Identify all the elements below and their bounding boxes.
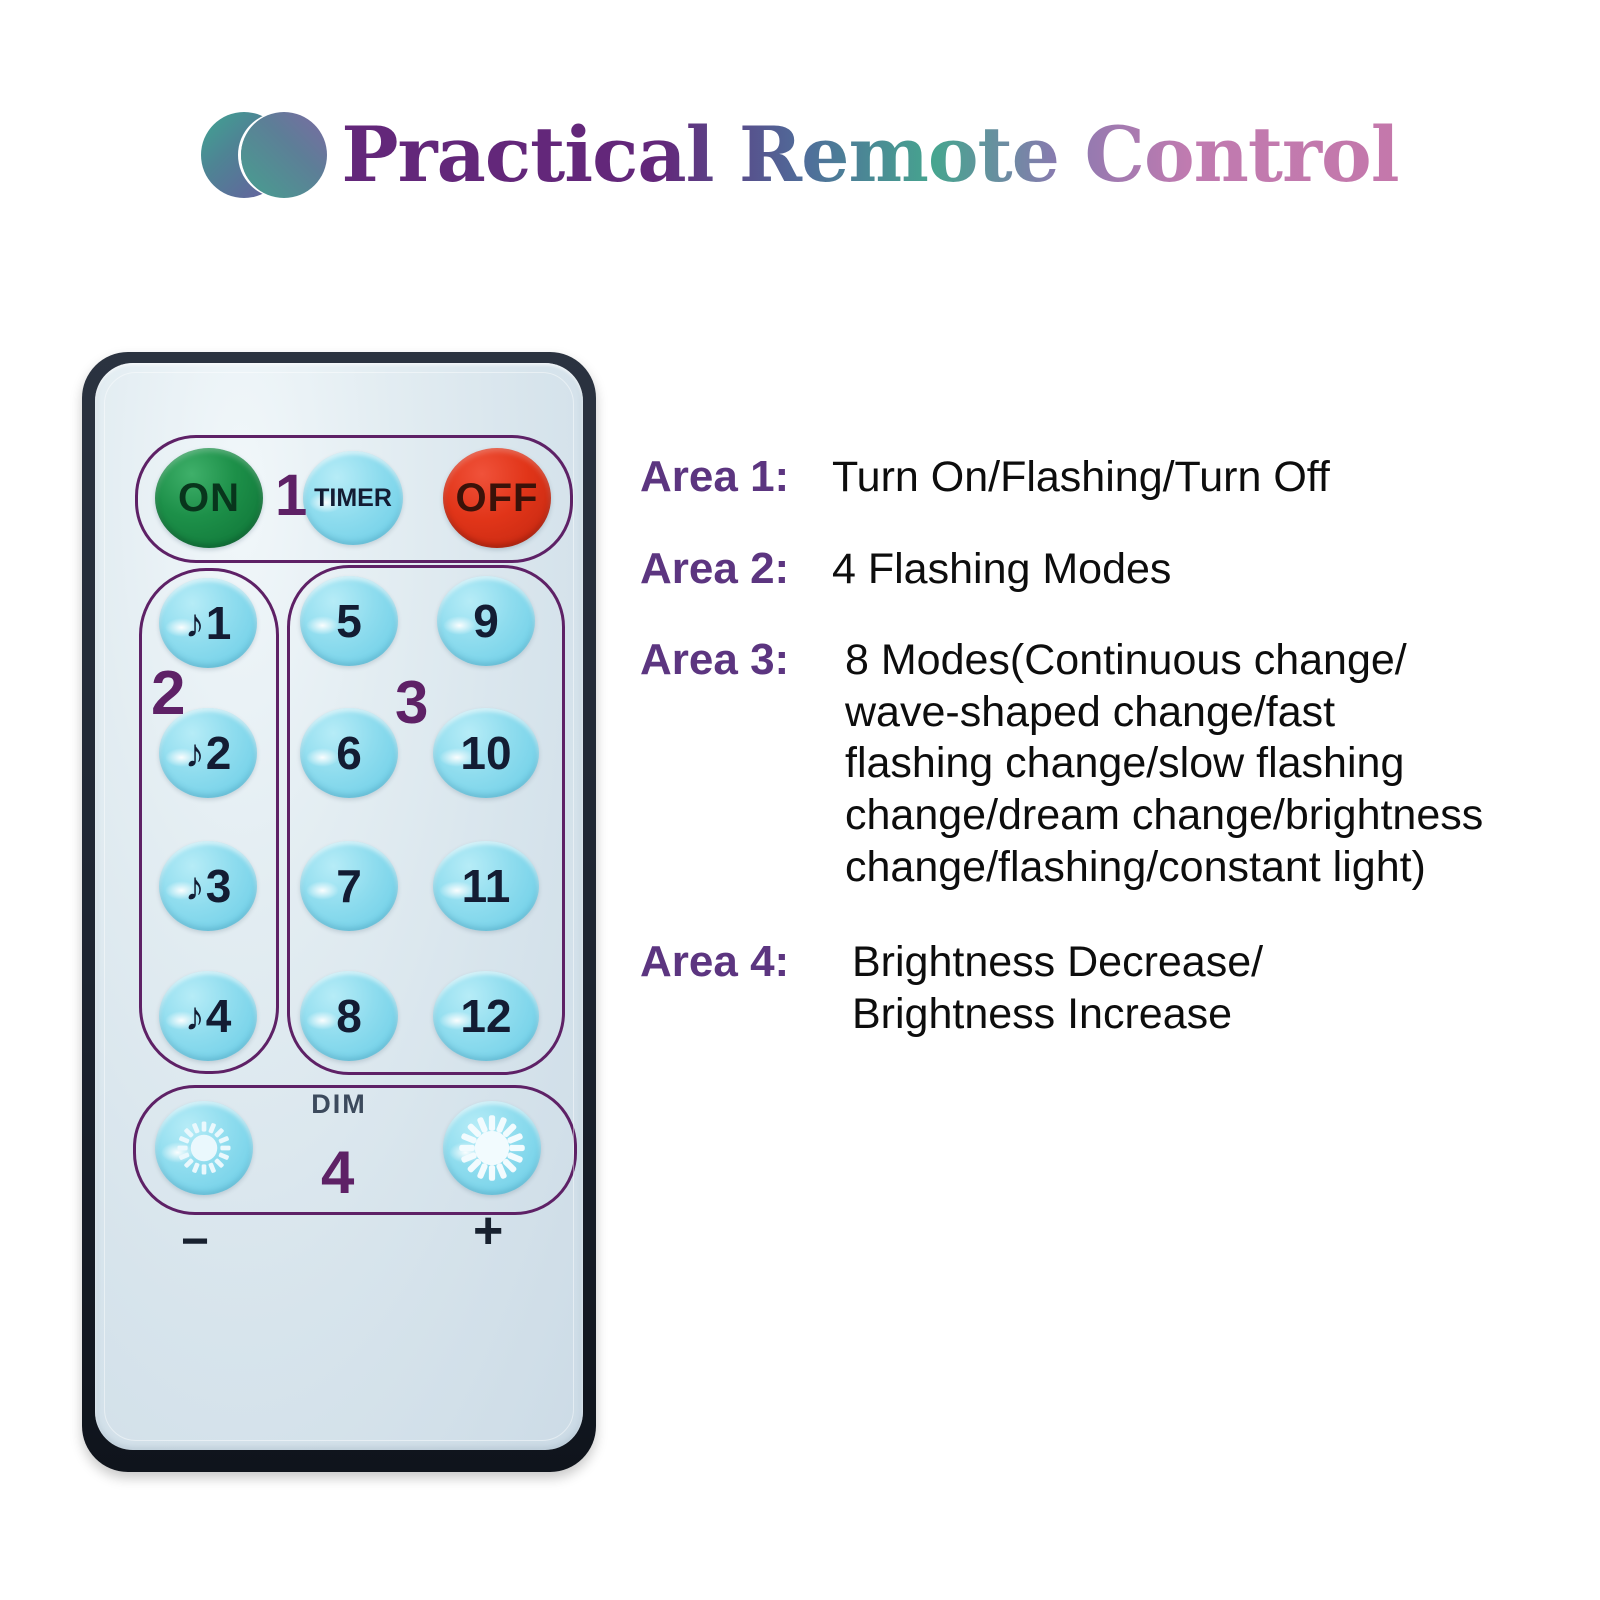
- legend-desc-area-2: 4 Flashing Modes: [832, 544, 1171, 596]
- music-note-icon: ♪: [185, 732, 205, 776]
- music-4-button[interactable]: ♪4: [159, 971, 257, 1061]
- logo-circle-front: [241, 112, 327, 198]
- sun-small-icon: [165, 1109, 243, 1187]
- annotation-marker-1: 1: [275, 467, 307, 525]
- area-legend: Area 1: Turn On/Flashing/Turn Off Area 2…: [640, 452, 1570, 1040]
- plus-sign-label: +: [473, 1205, 503, 1257]
- legend-label-area-4: Area 4:: [640, 937, 852, 987]
- legend-desc-area-4: Brightness Decrease/ Brightness Increase: [852, 937, 1263, 1040]
- mode-5-button-label: 5: [336, 594, 362, 648]
- legend-row-area-2: Area 2: 4 Flashing Modes: [640, 544, 1570, 596]
- legend-label-area-3: Area 3:: [640, 635, 845, 685]
- mode-11-button-label: 11: [462, 859, 511, 913]
- annotation-marker-3: 3: [395, 673, 428, 733]
- mode-11-button[interactable]: 11: [433, 841, 539, 931]
- mode-8-button-label: 8: [336, 989, 362, 1043]
- mode-10-button-label: 10: [460, 726, 511, 780]
- mode-5-button[interactable]: 5: [300, 576, 398, 666]
- legend-desc-area-3: 8 Modes(Continuous change/ wave-shaped c…: [845, 635, 1483, 893]
- mode-6-button[interactable]: 6: [300, 708, 398, 798]
- off-button[interactable]: OFF: [443, 448, 551, 548]
- on-button[interactable]: ON: [155, 448, 263, 548]
- music-note-icon: ♪: [185, 995, 205, 1039]
- on-button-label: ON: [178, 476, 240, 521]
- mode-8-button[interactable]: 8: [300, 971, 398, 1061]
- mode-12-button[interactable]: 12: [433, 971, 539, 1061]
- remote-body: ON TIMER OFF ♪1 ♪2 ♪3 ♪4 5: [82, 352, 596, 1472]
- music-1-button-label: 1: [206, 597, 232, 649]
- music-3-button-label: 3: [206, 860, 232, 912]
- mode-10-button[interactable]: 10: [433, 708, 539, 798]
- annotation-marker-4: 4: [321, 1143, 354, 1203]
- timer-button-label: TIMER: [314, 484, 392, 513]
- timer-button[interactable]: TIMER: [303, 451, 403, 545]
- music-3-button[interactable]: ♪3: [159, 841, 257, 931]
- legend-label-area-1: Area 1:: [640, 452, 832, 502]
- off-button-label: OFF: [456, 476, 539, 521]
- music-4-button-label: 4: [206, 990, 232, 1042]
- mode-12-button-label: 12: [460, 989, 511, 1043]
- page-title: Practical Remote Control: [341, 117, 1398, 193]
- legend-label-area-2: Area 2:: [640, 544, 832, 594]
- two-overlapping-circles-icon: [201, 112, 327, 198]
- brightness-increase-button[interactable]: [443, 1101, 541, 1195]
- legend-row-area-4: Area 4: Brightness Decrease/ Brightness …: [640, 937, 1570, 1040]
- remote-faceplate: ON TIMER OFF ♪1 ♪2 ♪3 ♪4 5: [95, 363, 583, 1450]
- mode-6-button-label: 6: [336, 726, 362, 780]
- mode-9-button[interactable]: 9: [437, 576, 535, 666]
- page-header: Practical Remote Control: [0, 100, 1600, 210]
- mode-9-button-label: 9: [473, 594, 499, 648]
- music-note-icon: ♪: [185, 602, 205, 646]
- remote-control-image: ON TIMER OFF ♪1 ♪2 ♪3 ♪4 5: [82, 352, 596, 1472]
- mode-7-button-label: 7: [336, 859, 362, 913]
- legend-row-area-1: Area 1: Turn On/Flashing/Turn Off: [640, 452, 1570, 504]
- legend-desc-area-1: Turn On/Flashing/Turn Off: [832, 452, 1330, 504]
- mode-7-button[interactable]: 7: [300, 841, 398, 931]
- sun-large-icon: [453, 1109, 531, 1187]
- annotation-marker-2: 2: [151, 663, 185, 725]
- music-1-button[interactable]: ♪1: [159, 578, 257, 668]
- minus-sign-label: −: [181, 1218, 209, 1266]
- brightness-decrease-button[interactable]: [155, 1101, 253, 1195]
- music-note-icon: ♪: [185, 865, 205, 909]
- legend-row-area-3: Area 3: 8 Modes(Continuous change/ wave-…: [640, 635, 1570, 893]
- music-2-button-label: 2: [206, 727, 232, 779]
